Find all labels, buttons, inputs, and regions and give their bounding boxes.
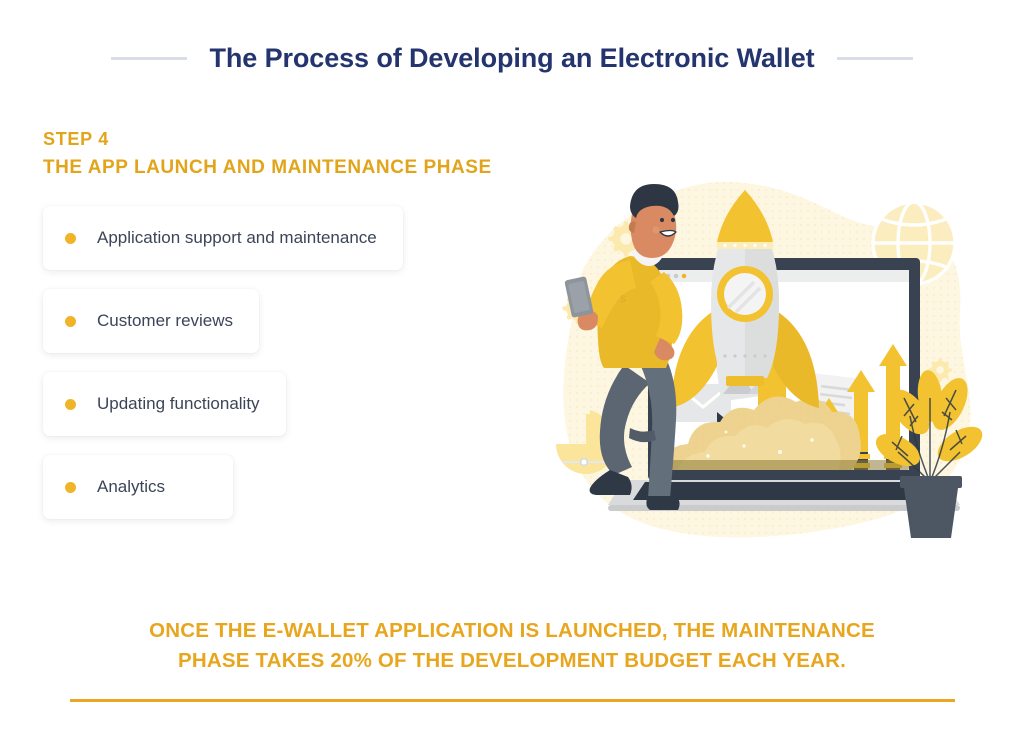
list-item-label: Analytics [97, 477, 165, 497]
bullet-dot-icon [65, 482, 76, 493]
hero-illustration: S [512, 160, 1024, 590]
bullet-dot-icon [65, 233, 76, 244]
bullet-card-list: Application support and maintenance Cust… [43, 206, 403, 538]
bullet-dot-icon [65, 316, 76, 327]
list-item[interactable]: Customer reviews [43, 289, 259, 353]
list-item-label: Customer reviews [97, 311, 233, 331]
list-item[interactable]: Updating functionality [43, 372, 286, 436]
header-rule-left [111, 57, 187, 60]
footer-caption: ONCE THE E-WALLET APPLICATION IS LAUNCHE… [62, 616, 962, 675]
footer-line-1: ONCE THE E-WALLET APPLICATION IS LAUNCHE… [62, 616, 962, 646]
footer-rule [70, 699, 955, 702]
list-item-label: Application support and maintenance [97, 228, 377, 248]
list-item[interactable]: Analytics [43, 455, 233, 519]
list-item[interactable]: Application support and maintenance [43, 206, 403, 270]
header-rule-right [837, 57, 913, 60]
bullet-dot-icon [65, 399, 76, 410]
step-number: STEP 4 [43, 126, 663, 154]
svg-text:S: S [620, 294, 626, 304]
footer-line-2: PHASE TAKES 20% OF THE DEVELOPMENT BUDGE… [62, 646, 962, 676]
page-title: The Process of Developing an Electronic … [209, 43, 814, 74]
page-header: The Process of Developing an Electronic … [0, 34, 1024, 82]
list-item-label: Updating functionality [97, 394, 260, 414]
